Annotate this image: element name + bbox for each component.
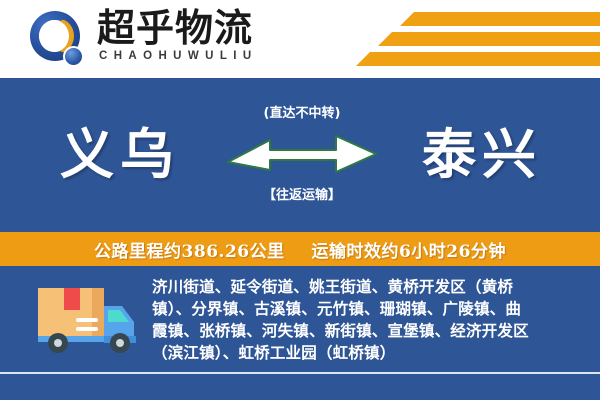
coverage-line: （滨江镇）、虹桥工业园（虹桥镇）	[152, 342, 584, 364]
info-bar: 公路里程约386.26公里 运输时效约6小时26分钟	[0, 232, 600, 266]
bidirectional-arrow-icon	[224, 130, 380, 176]
origin-city: 义乌	[10, 124, 230, 186]
coverage-section: 济川街道、延令街道、姚王街道、黄桥开发区（黄桥 镇）、分界镇、古溪镇、元竹镇、珊…	[0, 266, 600, 400]
delivery-truck-icon	[30, 280, 140, 358]
coverage-line: 济川街道、延令街道、姚王街道、黄桥开发区（黄桥	[152, 276, 584, 298]
brand-name-en: CHAOHUWULIU	[99, 50, 258, 62]
duration-text: 运输时效约6小时26分钟	[311, 242, 506, 262]
direct-shipping-note: (直达不中转)	[238, 102, 366, 121]
stripe-1	[400, 12, 600, 26]
bottom-divider	[0, 372, 600, 374]
route-section: 义乌 (直达不中转) 【往返运输】 泰兴	[0, 78, 600, 232]
stripe-3	[356, 52, 600, 66]
info-bar-content: 公路里程约386.26公里 运输时效约6小时26分钟	[94, 237, 506, 262]
coverage-area-list: 济川街道、延令街道、姚王街道、黄桥开发区（黄桥 镇）、分界镇、古溪镇、元竹镇、珊…	[152, 276, 584, 364]
header-stripes-decoration	[340, 8, 600, 72]
brand-logo-icon	[30, 11, 88, 69]
coverage-line: 镇）、分界镇、古溪镇、元竹镇、珊瑚镇、广陵镇、曲	[152, 298, 584, 320]
logistics-route-banner: 超乎物流 CHAOHUWULIU 义乌 (直达不中转) 【往返运输】 泰兴 公路…	[0, 0, 600, 400]
header: 超乎物流 CHAOHUWULIU	[0, 0, 600, 78]
destination-city: 泰兴	[372, 124, 592, 186]
logo-crescent-cutout	[39, 20, 69, 52]
brand-name-cn: 超乎物流	[97, 6, 253, 50]
logo-dot-shape	[63, 46, 84, 67]
stripe-2	[378, 32, 600, 46]
distance-text: 公路里程约386.26公里	[94, 242, 285, 262]
coverage-line: 霞镇、张桥镇、河失镇、新街镇、宣堡镇、经济开发区	[152, 320, 584, 342]
route-arrow-group: (直达不中转) 【往返运输】	[238, 102, 366, 206]
round-trip-note: 【往返运输】	[238, 184, 366, 203]
